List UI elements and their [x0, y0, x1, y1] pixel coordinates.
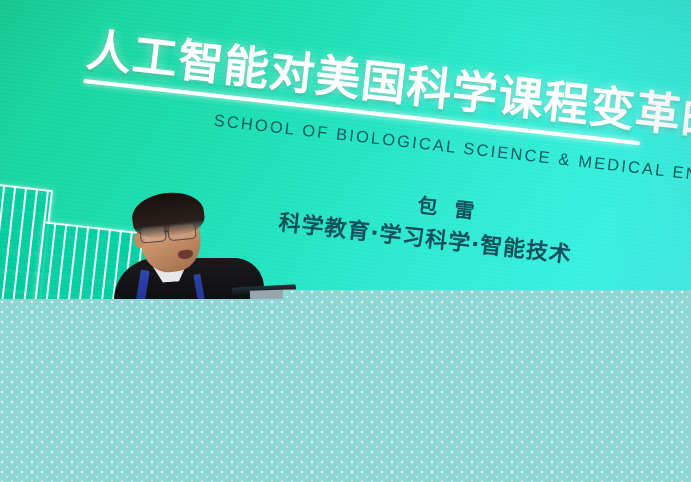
eyeglasses-lens-right — [167, 223, 196, 241]
eyeglasses-lens-left — [139, 225, 166, 243]
screenshot-canvas: 人工智能对美国科学课程变革的影响 SCHOOL OF BIOLOGICAL SC… — [0, 0, 691, 482]
slide-presenter-name: 包 雷 — [416, 189, 481, 225]
